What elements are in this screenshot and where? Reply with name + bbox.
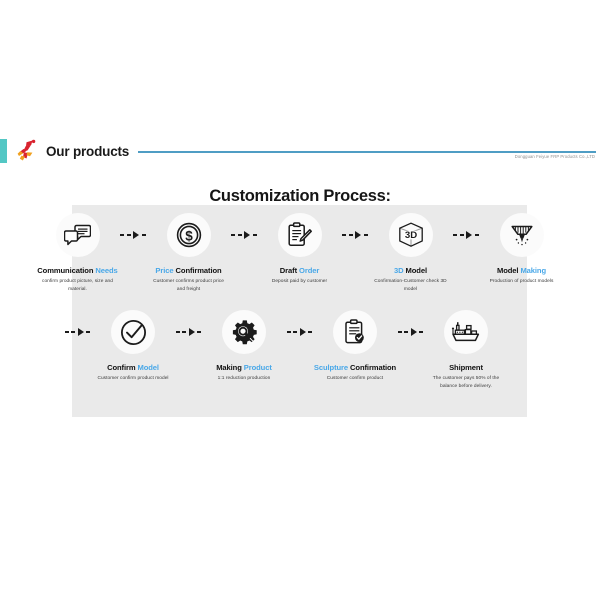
page-root: Our products Dongguan Feiyue FRP Product… bbox=[0, 0, 600, 600]
step-heading-primary: Communication bbox=[37, 266, 93, 275]
step-heading: Shipment bbox=[449, 364, 483, 372]
arrow-head-icon bbox=[78, 328, 84, 336]
step-description: Production of product models bbox=[482, 278, 562, 285]
dash-segment bbox=[453, 234, 457, 236]
dash-segment bbox=[197, 331, 201, 333]
step-icon-circle bbox=[222, 310, 266, 354]
arrow-connector bbox=[120, 213, 147, 257]
step-description: confirm product picture, size and materi… bbox=[38, 278, 118, 292]
step-description: Confirmation-Customer check 3D model bbox=[371, 278, 451, 292]
step-icon-circle bbox=[56, 213, 100, 257]
step-icon-circle bbox=[111, 310, 155, 354]
arrow-connector bbox=[342, 213, 369, 257]
step-description: 1:1 reduction production bbox=[204, 375, 284, 382]
step-heading: Sculpture Confirmation bbox=[314, 364, 396, 372]
gear-wrench-icon bbox=[231, 319, 258, 346]
step-heading: Communication Needs bbox=[37, 267, 117, 275]
dash-segment bbox=[142, 234, 146, 236]
arrow-connector bbox=[231, 213, 258, 257]
dash-segment bbox=[120, 234, 124, 236]
process-step: Sculpture Confirmation Customer confirm … bbox=[313, 310, 397, 383]
process-row-1: Communication Needs confirm product pict… bbox=[72, 213, 527, 293]
step-heading: 3D Model bbox=[394, 267, 427, 275]
step-heading-primary: Model bbox=[497, 266, 518, 275]
arrow-connector bbox=[453, 213, 480, 257]
step-heading-accent: Model bbox=[138, 363, 159, 372]
step-icon-circle bbox=[444, 310, 488, 354]
arrow-head-icon bbox=[411, 328, 417, 336]
process-step: 3D 3D Model Confirmation-Customer check … bbox=[369, 213, 453, 293]
dash-segment bbox=[176, 331, 180, 333]
process-step: Communication Needs confirm product pict… bbox=[36, 213, 120, 293]
feiyue-running-figure-logo-icon bbox=[12, 139, 40, 163]
customization-process-panel: Communication Needs confirm product pict… bbox=[72, 205, 527, 417]
step-heading-accent: Price bbox=[155, 266, 173, 275]
process-step: Shipment The customer pays 50% of the ba… bbox=[424, 310, 508, 390]
dash-segment bbox=[65, 331, 69, 333]
step-description: Customer confirms product price and frei… bbox=[149, 278, 229, 292]
process-step: Making Product 1:1 reduction production bbox=[202, 310, 286, 383]
header-accent-bar bbox=[0, 139, 7, 163]
process-row-2: Confirm Model Customer confirm product m… bbox=[72, 310, 527, 390]
dollar-coin-icon: $ bbox=[176, 222, 202, 248]
dash-segment bbox=[308, 331, 312, 333]
process-step: Draft Order Deposit paid by customer bbox=[258, 213, 342, 286]
dash-segment bbox=[419, 331, 423, 333]
dash-segment bbox=[475, 234, 479, 236]
dash-segment bbox=[398, 331, 402, 333]
step-heading: Making Product bbox=[216, 364, 272, 372]
dash-segment bbox=[349, 234, 353, 236]
dash-segment bbox=[253, 234, 257, 236]
step-heading: Model Making bbox=[497, 267, 546, 275]
arrow-head-icon bbox=[133, 231, 139, 239]
3d-printer-nozzle-icon bbox=[509, 223, 535, 248]
dash-segment bbox=[293, 331, 297, 333]
chat-bubbles-icon bbox=[64, 223, 91, 247]
step-icon-circle: 3D bbox=[389, 213, 433, 257]
step-icon-circle bbox=[500, 213, 544, 257]
step-heading-primary: Making bbox=[216, 363, 242, 372]
step-heading-accent: Order bbox=[299, 266, 319, 275]
svg-text:$: $ bbox=[185, 228, 193, 243]
step-heading-accent: Needs bbox=[95, 266, 117, 275]
dash-segment bbox=[460, 234, 464, 236]
step-description: Deposit paid by customer bbox=[260, 278, 340, 285]
section-header: Our products Dongguan Feiyue FRP Product… bbox=[0, 139, 600, 163]
dash-segment bbox=[127, 234, 131, 236]
svg-text:3D: 3D bbox=[404, 230, 416, 241]
step-heading-primary: Shipment bbox=[449, 363, 483, 372]
step-icon-circle: $ bbox=[167, 213, 211, 257]
arrow-head-icon bbox=[300, 328, 306, 336]
step-description: Customer confirm product bbox=[315, 375, 395, 382]
step-heading-primary: Model bbox=[406, 266, 427, 275]
step-heading-primary: Confirmation bbox=[176, 266, 222, 275]
step-heading: Confirm Model bbox=[107, 364, 159, 372]
dash-segment bbox=[287, 331, 291, 333]
arrow-head-icon bbox=[355, 231, 361, 239]
step-heading: Price Confirmation bbox=[155, 267, 221, 275]
step-heading: Draft Order bbox=[280, 267, 319, 275]
process-step: Confirm Model Customer confirm product m… bbox=[91, 310, 175, 383]
dash-segment bbox=[86, 331, 90, 333]
dash-segment bbox=[71, 331, 75, 333]
page-title: Our products bbox=[46, 144, 129, 159]
step-icon-circle bbox=[278, 213, 322, 257]
dash-segment bbox=[404, 331, 408, 333]
step-heading-primary: Confirmation bbox=[350, 363, 396, 372]
process-step: Model Making Production of product model… bbox=[480, 213, 564, 286]
process-title: Customization Process: bbox=[0, 187, 600, 206]
process-step: $ Price Confirmation Customer confirms p… bbox=[147, 213, 231, 293]
step-heading-primary: Confirm bbox=[107, 363, 135, 372]
clipboard-check-icon bbox=[343, 319, 367, 345]
step-icon-circle bbox=[333, 310, 377, 354]
company-name: Dongguan Feiyue FRP Products Co.,LTD bbox=[515, 154, 595, 159]
dash-segment bbox=[342, 234, 346, 236]
header-divider-rule bbox=[138, 151, 596, 153]
arrow-head-icon bbox=[244, 231, 250, 239]
step-heading-accent: Making bbox=[520, 266, 546, 275]
dash-segment bbox=[364, 234, 368, 236]
check-circle-icon bbox=[120, 319, 147, 346]
clipboard-pencil-icon bbox=[287, 222, 312, 248]
step-heading-accent: Sculpture bbox=[314, 363, 348, 372]
arrow-connector bbox=[175, 310, 202, 354]
arrow-connector bbox=[64, 310, 91, 354]
dash-segment bbox=[231, 234, 235, 236]
step-heading-accent: 3D bbox=[394, 266, 404, 275]
3d-cube-icon: 3D bbox=[398, 222, 424, 248]
step-description: The customer pays 50% of the balance bef… bbox=[426, 375, 506, 389]
step-heading-accent: Product bbox=[244, 363, 272, 372]
arrow-head-icon bbox=[466, 231, 472, 239]
arrow-connector bbox=[397, 310, 424, 354]
cargo-ship-icon bbox=[451, 320, 481, 344]
dash-segment bbox=[238, 234, 242, 236]
arrow-head-icon bbox=[189, 328, 195, 336]
step-heading-primary: Draft bbox=[280, 266, 297, 275]
dash-segment bbox=[182, 331, 186, 333]
step-description: Customer confirm product model bbox=[93, 375, 173, 382]
arrow-connector bbox=[286, 310, 313, 354]
